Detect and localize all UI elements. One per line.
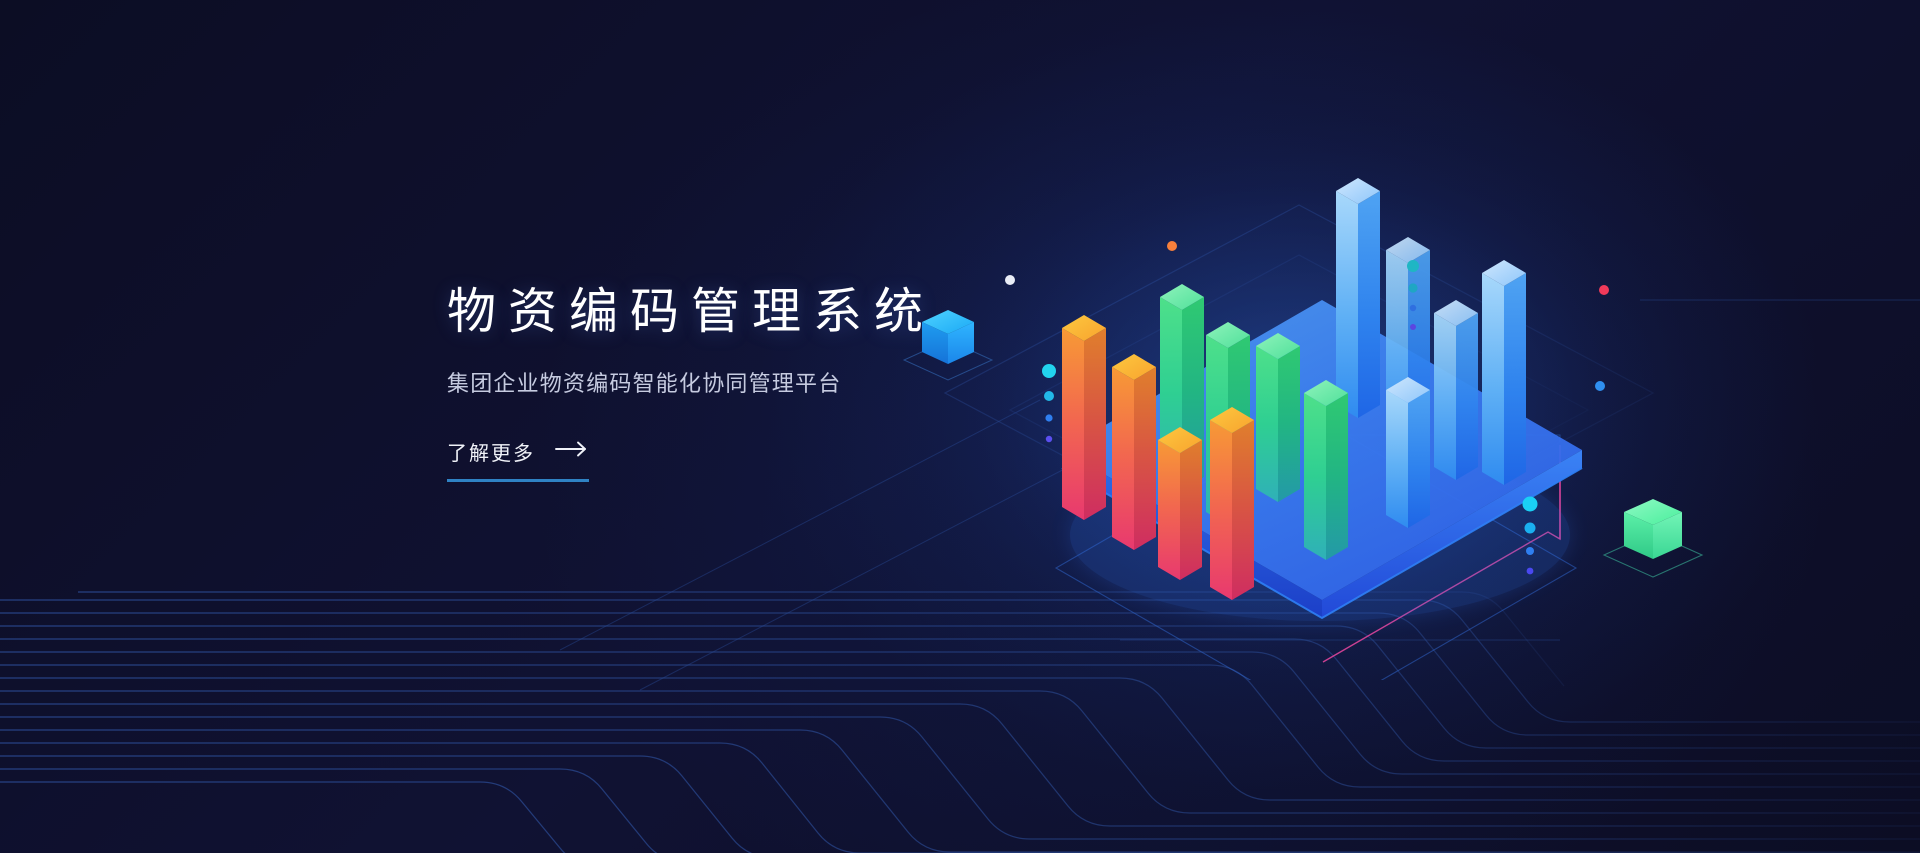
bar-green-4 — [1304, 380, 1348, 560]
hero-banner: 物资编码管理系统 集团企业物资编码智能化协同管理平台 了解更多 — [0, 0, 1920, 853]
white-dot — [1005, 275, 1015, 285]
bar-green-3 — [1256, 333, 1300, 502]
bar-orange-4 — [1210, 407, 1254, 600]
bar-orange-3 — [1158, 427, 1202, 580]
blue-dot — [1595, 381, 1605, 391]
blue-cube-decoration — [900, 298, 996, 382]
green-cube-decoration — [1598, 485, 1708, 581]
bar-blue-4 — [1386, 377, 1430, 528]
learn-more-label: 了解更多 — [447, 437, 535, 466]
orange-dot — [1167, 241, 1177, 251]
red-dot — [1599, 285, 1609, 295]
arrow-right-icon — [555, 441, 589, 461]
bar-blue-3 — [1434, 300, 1478, 480]
isometric-bar-chart — [1000, 150, 1640, 680]
bar-orange-1 — [1062, 315, 1106, 520]
bar-blue-1 — [1336, 178, 1380, 418]
bar-orange-2 — [1112, 354, 1156, 550]
learn-more-button[interactable]: 了解更多 — [447, 437, 589, 482]
bar-blue-5 — [1482, 260, 1526, 485]
